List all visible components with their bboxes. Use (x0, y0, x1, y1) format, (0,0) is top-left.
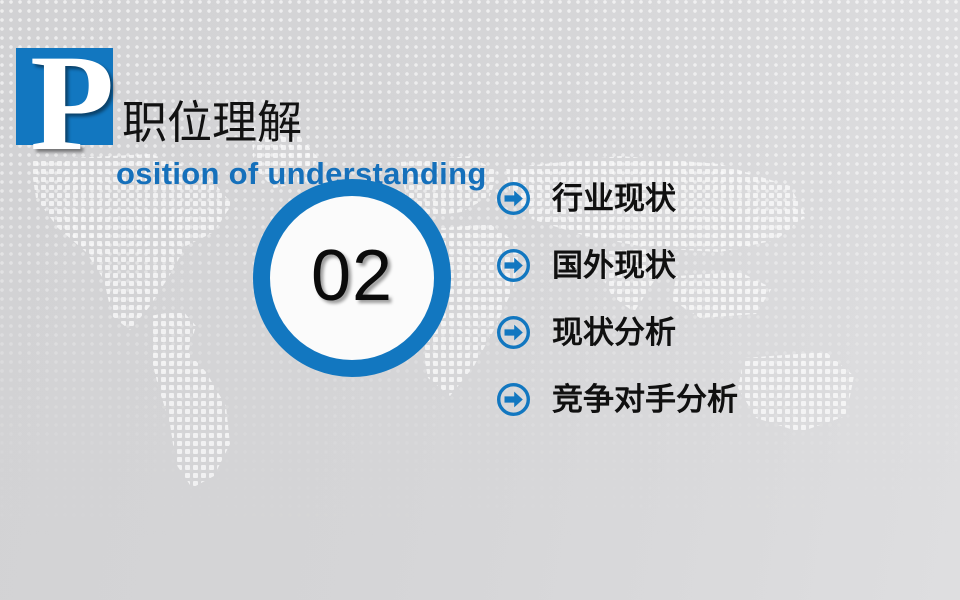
page-title-cn: 职位理解 (122, 100, 302, 145)
arrow-right-circle-icon (497, 383, 530, 416)
list-item[interactable]: 国外现状 (497, 248, 917, 282)
arrow-right-circle-icon (497, 249, 530, 282)
section-number-circle: 02 (253, 179, 451, 377)
list-item[interactable]: 现状分析 (497, 315, 917, 349)
list-item-label: 行业现状 (552, 183, 676, 214)
arrow-right-circle-icon (497, 316, 530, 349)
slide-canvas: P 职位理解 osition of understanding 02 行业现状 (0, 0, 960, 600)
slide-header: P 职位理解 osition of understanding (16, 48, 716, 158)
section-number-label: 02 (311, 240, 393, 312)
list-item[interactable]: 行业现状 (497, 181, 917, 215)
list-item-label: 现状分析 (552, 317, 676, 348)
agenda-list: 行业现状 国外现状 现状分析 (497, 181, 917, 416)
list-item-label: 国外现状 (552, 250, 676, 281)
letter-p-logo-icon: P (30, 34, 114, 172)
page-subtitle-en: osition of understanding (116, 158, 487, 189)
list-item-label: 竞争对手分析 (552, 384, 738, 415)
arrow-right-circle-icon (497, 182, 530, 215)
list-item[interactable]: 竞争对手分析 (497, 382, 917, 416)
